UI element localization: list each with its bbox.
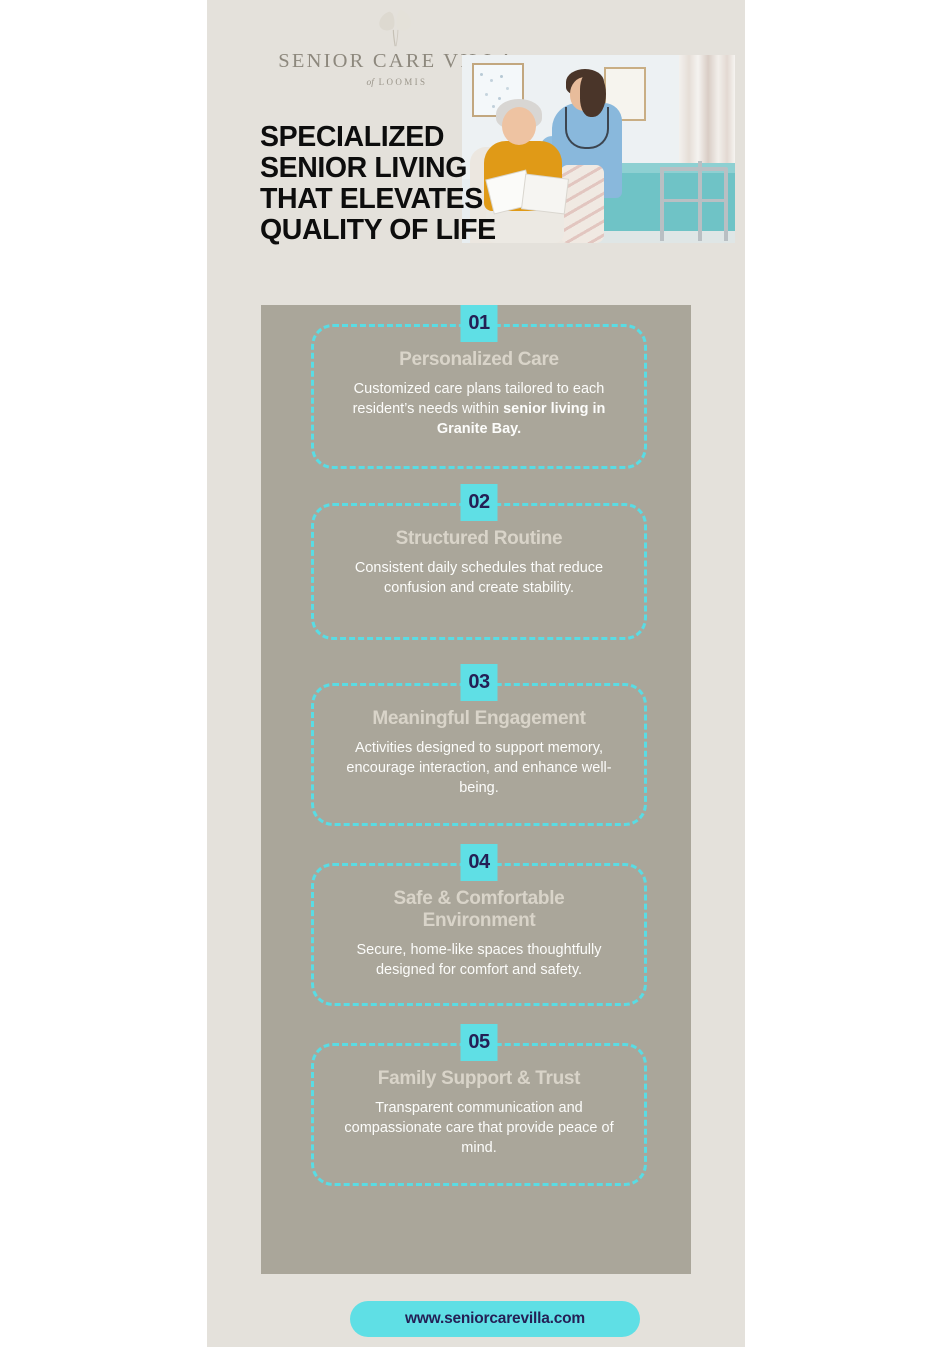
brand-sub-prefix: of	[367, 78, 374, 88]
walker-icon	[658, 155, 730, 241]
website-button[interactable]: www.seniorcarevilla.com	[350, 1301, 640, 1337]
hero-photo	[462, 55, 735, 243]
ginkgo-leaf-icon	[367, 8, 427, 48]
headline-line-3: THAT ELEVATES	[260, 184, 496, 215]
page-title: SPECIALIZED SENIOR LIVING THAT ELEVATES …	[260, 122, 496, 246]
card-body-box: Structured RoutineConsistent daily sched…	[311, 503, 647, 640]
card-description-text: Secure, home-like spaces thoughtfully de…	[356, 942, 601, 978]
card-number-badge: 03	[461, 664, 498, 701]
card-title: Personalized Care	[340, 349, 618, 371]
card-number-badge: 01	[461, 305, 498, 342]
card-description-text: Consistent daily schedules that reduce c…	[355, 560, 603, 596]
card-number-badge: 02	[461, 484, 498, 521]
feature-cards-panel: 01Personalized CareCustomized care plans…	[261, 305, 691, 1274]
card-number-badge: 05	[461, 1024, 498, 1061]
card-title: Safe & Comfortable Environment	[340, 888, 618, 932]
stethoscope-icon	[565, 107, 609, 149]
headline-line-2: SENIOR LIVING	[260, 153, 496, 184]
card-title: Structured Routine	[340, 528, 618, 550]
card-description: Activities designed to support memory, e…	[340, 738, 618, 798]
card-body-box: Meaningful EngagementActivities designed…	[311, 683, 647, 826]
headline-line-1: SPECIALIZED	[260, 122, 496, 153]
card-body-box: Family Support & TrustTransparent commun…	[311, 1043, 647, 1186]
card-description-text: Transparent communication and compassion…	[344, 1100, 613, 1156]
card-title: Meaningful Engagement	[340, 708, 618, 730]
card-body-box: Safe & Comfortable EnvironmentSecure, ho…	[311, 863, 647, 1006]
card-body-box: Personalized CareCustomized care plans t…	[311, 324, 647, 469]
infographic-page: SENIOR CARE VILLA of LOOMIS	[207, 0, 745, 1347]
card-description: Secure, home-like spaces thoughtfully de…	[340, 940, 618, 980]
card-title: Family Support & Trust	[340, 1068, 618, 1090]
brand-sub-name: LOOMIS	[379, 77, 428, 87]
card-description: Consistent daily schedules that reduce c…	[340, 558, 618, 598]
card-description-text: Activities designed to support memory, e…	[346, 740, 611, 796]
card-number-badge: 04	[461, 844, 498, 881]
card-description: Customized care plans tailored to each r…	[340, 379, 618, 439]
card-description: Transparent communication and compassion…	[340, 1098, 618, 1158]
headline-line-4: QUALITY OF LIFE	[260, 215, 496, 246]
